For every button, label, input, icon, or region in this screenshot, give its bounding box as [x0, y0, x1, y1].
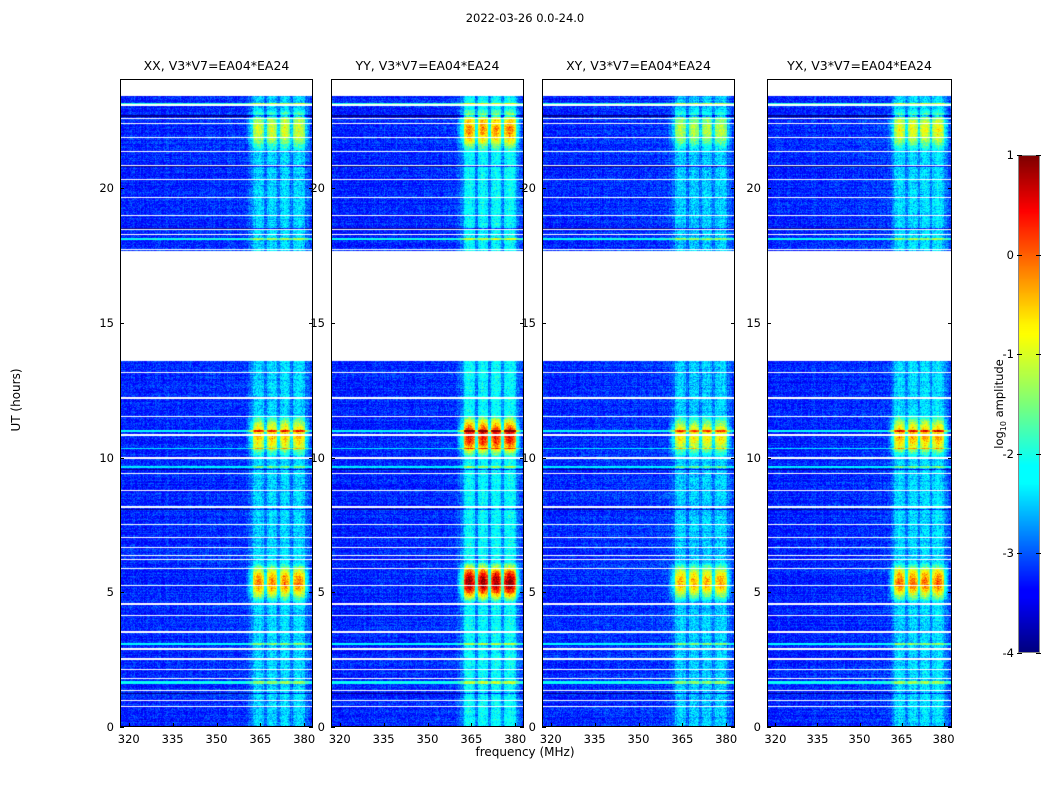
x-tick-label: 350: [417, 732, 439, 746]
y-tick-label: 5: [516, 585, 536, 599]
y-tick-mark: [948, 323, 952, 324]
y-tick-label: 10: [516, 451, 536, 465]
x-tick-mark: [428, 723, 429, 727]
y-tick-mark: [767, 727, 771, 728]
y-tick-label: 20: [305, 181, 325, 195]
y-tick-label: 15: [741, 316, 761, 330]
y-tick-mark: [120, 323, 124, 324]
x-tick-label: 320: [764, 732, 786, 746]
dynamic-spectrum-image: [332, 80, 523, 726]
x-tick-label: 320: [118, 732, 140, 746]
x-tick-label: 335: [162, 732, 184, 746]
y-tick-mark: [331, 188, 335, 189]
x-tick-mark: [260, 723, 261, 727]
x-tick-label: 380: [933, 732, 955, 746]
y-tick-label: 15: [94, 316, 114, 330]
y-tick-mark: [542, 727, 546, 728]
colorbar-tick-mark: [1036, 255, 1041, 256]
x-tick-label: 335: [373, 732, 395, 746]
x-tick-label: 380: [504, 732, 526, 746]
colorbar-tick-mark: [1036, 653, 1041, 654]
colorbar-label-suffix: amplitude: [992, 359, 1006, 421]
x-tick-mark: [944, 723, 945, 727]
y-tick-mark: [542, 188, 546, 189]
y-tick-label: 10: [94, 451, 114, 465]
axes-frame: [331, 79, 524, 727]
axes-frame: [767, 79, 952, 727]
y-tick-label: 0: [741, 720, 761, 734]
waterfall-panel-yx: YX, V3*V7=EA04*EA24320335350365380051015…: [767, 79, 952, 727]
y-tick-mark: [120, 727, 124, 728]
y-tick-mark: [120, 592, 124, 593]
waterfall-panel-xy: XY, V3*V7=EA04*EA24320335350365380051015…: [542, 79, 735, 727]
y-tick-label: 0: [94, 720, 114, 734]
y-tick-mark: [731, 323, 735, 324]
colorbar-gradient: [1019, 156, 1039, 652]
y-tick-label: 10: [305, 451, 325, 465]
dynamic-spectrum-image: [121, 80, 312, 726]
x-tick-mark: [682, 723, 683, 727]
colorbar-gradient-box: [1018, 155, 1040, 653]
x-tick-label: 380: [715, 732, 737, 746]
x-tick-mark: [384, 723, 385, 727]
y-tick-mark: [767, 188, 771, 189]
y-tick-label: 5: [305, 585, 325, 599]
figure-canvas: 2022-03-26 0.0-24.0 XX, V3*V7=EA04*EA243…: [0, 0, 1050, 800]
waterfall-panel-xx: XX, V3*V7=EA04*EA24320335350365380051015…: [120, 79, 313, 727]
y-tick-label: 5: [94, 585, 114, 599]
y-tick-mark: [120, 458, 124, 459]
x-tick-label: 380: [293, 732, 315, 746]
colorbar-tick-label: 1: [1007, 148, 1014, 162]
x-tick-label: 365: [671, 732, 693, 746]
y-tick-mark: [731, 458, 735, 459]
y-tick-mark: [331, 458, 335, 459]
colorbar-label-prefix: log: [992, 431, 1006, 449]
y-tick-mark: [948, 592, 952, 593]
colorbar-tick-mark: [1017, 255, 1022, 256]
colorbar-tick-label: -3: [1003, 546, 1014, 560]
colorbar-tick-mark: [1017, 454, 1022, 455]
y-tick-label: 15: [516, 316, 536, 330]
colorbar: 10-1-2-3-4: [1018, 155, 1040, 653]
y-tick-mark: [767, 458, 771, 459]
y-tick-mark: [331, 323, 335, 324]
x-tick-label: 320: [329, 732, 351, 746]
y-tick-mark: [948, 188, 952, 189]
colorbar-tick-mark: [1017, 354, 1022, 355]
y-tick-mark: [948, 458, 952, 459]
y-tick-mark: [731, 188, 735, 189]
y-tick-mark: [331, 592, 335, 593]
y-tick-label: 10: [741, 451, 761, 465]
y-axis-label: UT (hours): [9, 368, 23, 431]
x-tick-mark: [860, 723, 861, 727]
colorbar-label-sub: 10: [999, 421, 1008, 431]
x-tick-mark: [902, 723, 903, 727]
dynamic-spectrum-image: [768, 80, 951, 726]
panel-title: YX, V3*V7=EA04*EA24: [787, 58, 932, 73]
panel-title: XX, V3*V7=EA04*EA24: [144, 58, 290, 73]
x-tick-label: 350: [849, 732, 871, 746]
y-tick-label: 20: [741, 181, 761, 195]
colorbar-tick-label: -4: [1003, 646, 1014, 660]
dynamic-spectrum-image: [543, 80, 734, 726]
x-tick-label: 335: [584, 732, 606, 746]
colorbar-tick-label: 0: [1007, 248, 1014, 262]
x-tick-mark: [726, 723, 727, 727]
colorbar-tick-mark: [1017, 553, 1022, 554]
x-tick-label: 365: [891, 732, 913, 746]
y-tick-mark: [767, 592, 771, 593]
x-tick-mark: [340, 723, 341, 727]
x-axis-label: frequency (MHz): [0, 745, 1050, 759]
x-tick-mark: [595, 723, 596, 727]
y-tick-label: 20: [94, 181, 114, 195]
x-tick-mark: [471, 723, 472, 727]
colorbar-tick-mark: [1036, 454, 1041, 455]
y-tick-mark: [731, 592, 735, 593]
x-tick-label: 365: [460, 732, 482, 746]
y-tick-mark: [542, 323, 546, 324]
colorbar-tick-mark: [1017, 653, 1022, 654]
x-tick-mark: [551, 723, 552, 727]
colorbar-tick-mark: [1017, 155, 1022, 156]
x-tick-label: 335: [806, 732, 828, 746]
x-tick-mark: [775, 723, 776, 727]
x-tick-label: 365: [249, 732, 271, 746]
colorbar-tick-mark: [1036, 155, 1041, 156]
y-tick-mark: [120, 188, 124, 189]
y-tick-mark: [542, 592, 546, 593]
y-tick-label: 0: [516, 720, 536, 734]
colorbar-tick-mark: [1036, 553, 1041, 554]
y-tick-label: 0: [305, 720, 325, 734]
waterfall-panel-yy: YY, V3*V7=EA04*EA24320335350365380051015…: [331, 79, 524, 727]
panel-title: YY, V3*V7=EA04*EA24: [356, 58, 500, 73]
y-tick-mark: [731, 727, 735, 728]
y-tick-mark: [767, 323, 771, 324]
y-tick-label: 20: [516, 181, 536, 195]
x-tick-label: 350: [628, 732, 650, 746]
x-tick-mark: [173, 723, 174, 727]
x-tick-mark: [129, 723, 130, 727]
y-tick-mark: [542, 458, 546, 459]
axes-frame: [120, 79, 313, 727]
figure-title: 2022-03-26 0.0-24.0: [0, 11, 1050, 25]
colorbar-tick-label: -2: [1003, 447, 1014, 461]
colorbar-label: log10 amplitude: [992, 359, 1008, 449]
x-tick-mark: [817, 723, 818, 727]
colorbar-tick-mark: [1036, 354, 1041, 355]
y-tick-mark: [331, 727, 335, 728]
x-tick-mark: [639, 723, 640, 727]
y-tick-mark: [948, 727, 952, 728]
x-tick-label: 320: [540, 732, 562, 746]
y-tick-label: 5: [741, 585, 761, 599]
axes-frame: [542, 79, 735, 727]
x-tick-mark: [217, 723, 218, 727]
x-tick-label: 350: [206, 732, 228, 746]
y-tick-label: 15: [305, 316, 325, 330]
panel-title: XY, V3*V7=EA04*EA24: [566, 58, 711, 73]
